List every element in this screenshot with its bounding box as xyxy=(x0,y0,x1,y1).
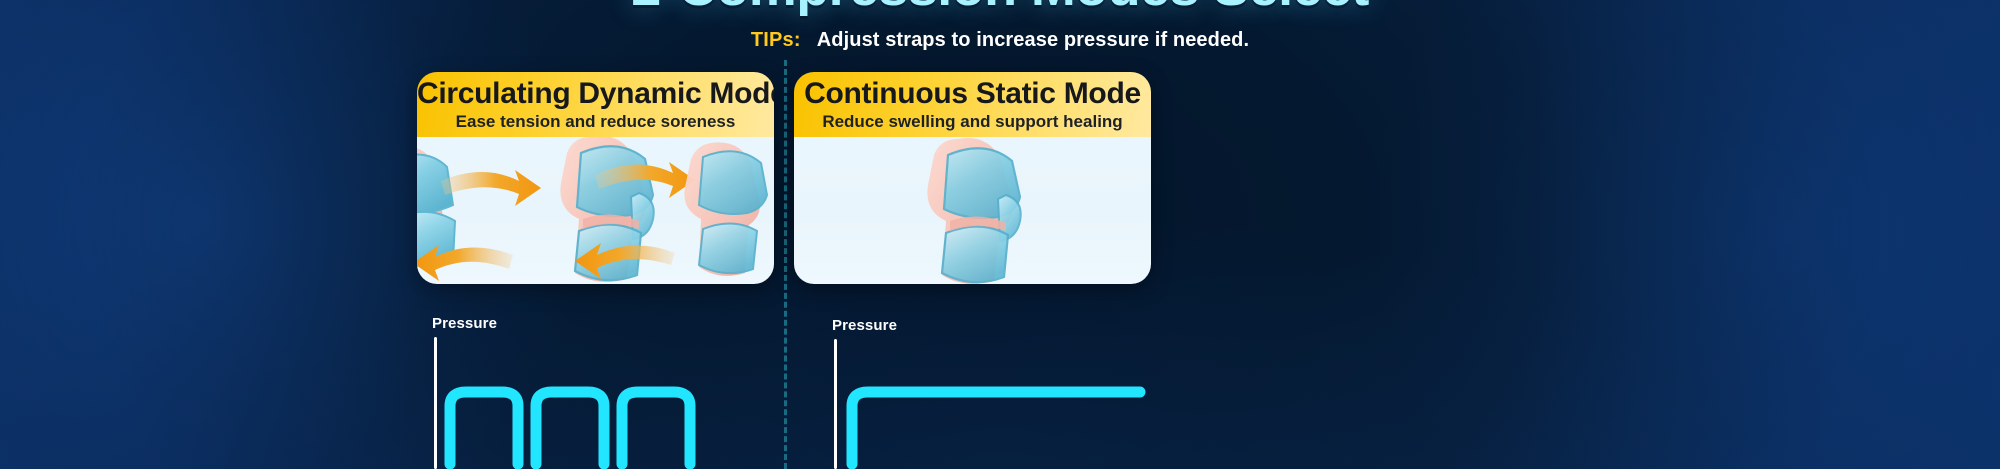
background-glow-right xyxy=(1380,0,2000,469)
knee-brace-static-illustration xyxy=(794,137,1151,284)
chart-y-axis xyxy=(834,339,837,469)
mode-divider xyxy=(784,60,787,469)
tips-label: TIPs: xyxy=(751,29,801,51)
card-continuous-static-mode[interactable]: Continuous Static Mode Reduce swelling a… xyxy=(794,72,1151,284)
card-title: Continuous Static Mode xyxy=(794,76,1151,112)
card-circulating-dynamic-mode[interactable]: Circulating Dynamic Mode Ease tension an… xyxy=(417,72,774,284)
knee-brace-dynamic-illustration xyxy=(417,137,774,284)
card-subtitle: Reduce swelling and support healing xyxy=(794,112,1151,132)
chart-axis-label: Pressure xyxy=(832,317,897,334)
page-title: 2-Compression Modes Select xyxy=(0,0,2000,18)
knee-brace-leg-3 xyxy=(684,142,767,275)
tips-text: Adjust straps to increase pressure if ne… xyxy=(817,29,1249,51)
chart-y-axis xyxy=(434,337,437,469)
arrow-right-top xyxy=(441,170,541,206)
card-illustration-area xyxy=(794,137,1151,284)
card-title: Circulating Dynamic Mode xyxy=(417,76,774,112)
arrow-left-bottom xyxy=(417,245,513,281)
card-header: Continuous Static Mode Reduce swelling a… xyxy=(794,72,1151,137)
card-illustration-area xyxy=(417,137,774,284)
card-header: Circulating Dynamic Mode Ease tension an… xyxy=(417,72,774,137)
tips-line: TIPs:Adjust straps to increase pressure … xyxy=(0,29,2000,52)
card-subtitle: Ease tension and reduce soreness xyxy=(417,112,774,132)
chart-waveform-dynamic xyxy=(440,344,770,469)
chart-waveform-static xyxy=(840,344,1170,469)
infographic-banner: 2-Compression Modes Select TIPs:Adjust s… xyxy=(0,0,2000,469)
knee-brace-leg-static xyxy=(927,138,1020,284)
chart-axis-label: Pressure xyxy=(432,315,497,332)
